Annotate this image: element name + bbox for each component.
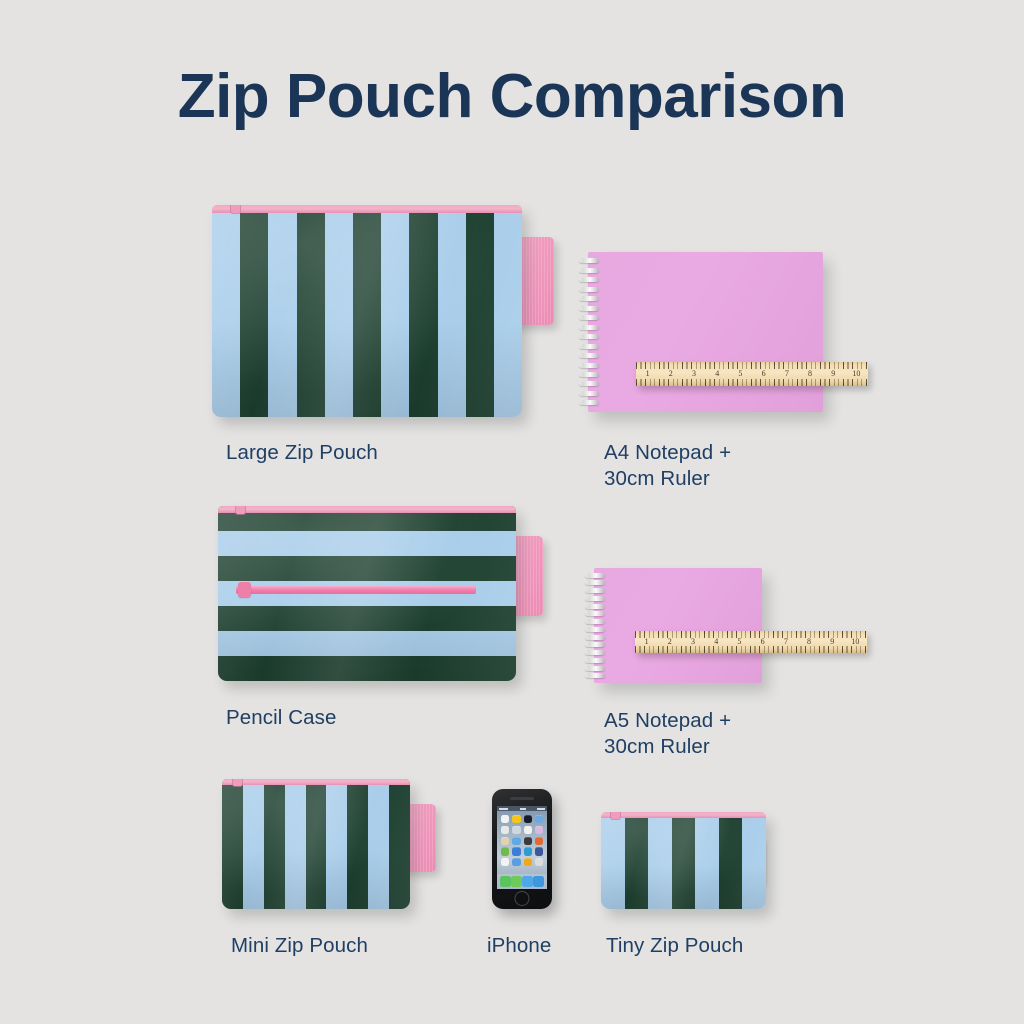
ruler-ticks-bottom bbox=[635, 646, 867, 653]
dock-icon-phone bbox=[500, 876, 511, 887]
tiny-zip-pouch-caption: Tiny Zip Pouch bbox=[606, 933, 846, 959]
a4-ruler[interactable]: 1 2 3 4 5 6 7 8 9 10 bbox=[636, 362, 868, 386]
ruler-number: 1 bbox=[636, 369, 659, 378]
ruler-number: 2 bbox=[659, 369, 682, 378]
large-pouch-zipper[interactable] bbox=[212, 205, 522, 213]
tiny-pouch-zipper[interactable] bbox=[601, 812, 766, 818]
tiny-pouch-body bbox=[601, 812, 766, 909]
pencil-case-caption: Pencil Case bbox=[226, 705, 526, 731]
pencil-case[interactable]: PROJECT TEN bbox=[218, 506, 516, 681]
mini-zip-pouch[interactable]: PROJECT TEN bbox=[222, 779, 410, 909]
a5-notepad-page bbox=[594, 568, 762, 683]
iphone-app-grid[interactable] bbox=[497, 811, 547, 866]
app-icon bbox=[501, 847, 509, 855]
a5-notepad[interactable] bbox=[594, 568, 762, 683]
app-icon bbox=[535, 858, 543, 866]
app-icon bbox=[501, 837, 509, 845]
pencil-case-body bbox=[218, 506, 516, 681]
ruler-number: 1 bbox=[635, 637, 658, 646]
app-icon bbox=[501, 826, 509, 834]
app-icon bbox=[535, 837, 543, 845]
ruler-number: 8 bbox=[797, 637, 820, 646]
app-icon bbox=[524, 815, 532, 823]
large-zip-pouch[interactable]: PROJECT TEN bbox=[212, 205, 522, 417]
iphone-earpiece-speaker bbox=[510, 797, 534, 800]
app-icon bbox=[524, 837, 532, 845]
iphone[interactable] bbox=[492, 789, 552, 909]
app-icon bbox=[535, 847, 543, 855]
a5-notepad-spiral bbox=[585, 573, 605, 679]
a4-notepad[interactable] bbox=[588, 252, 823, 412]
mini-zip-pouch-caption: Mini Zip Pouch bbox=[231, 933, 471, 959]
app-icon bbox=[524, 847, 532, 855]
ruler-numbers: 1 2 3 4 5 6 7 8 9 10 bbox=[636, 369, 868, 380]
a5-ruler[interactable]: 1 2 3 4 5 6 7 8 9 10 bbox=[635, 631, 867, 653]
iphone-screen[interactable] bbox=[497, 806, 547, 889]
dock-icon-mail bbox=[522, 876, 533, 887]
ruler-number: 3 bbox=[681, 637, 704, 646]
a5-notepad-ruler-caption: A5 Notepad + 30cm Ruler bbox=[604, 708, 884, 760]
ruler-number: 7 bbox=[775, 369, 798, 378]
ruler-ticks-bottom bbox=[636, 379, 868, 386]
app-icon bbox=[512, 837, 520, 845]
dock-icon-safari bbox=[533, 876, 544, 887]
ruler-numbers: 1 2 3 4 5 6 7 8 9 10 bbox=[635, 637, 867, 647]
page-title: Zip Pouch Comparison bbox=[0, 66, 1024, 128]
mini-pouch-zipper[interactable] bbox=[222, 779, 410, 785]
ruler-number: 10 bbox=[844, 637, 867, 646]
dock-icon-messages bbox=[511, 876, 522, 887]
pencil-case-front-zipper[interactable] bbox=[236, 586, 476, 594]
app-icon bbox=[524, 826, 532, 834]
a4-notepad-spiral bbox=[579, 258, 599, 405]
app-icon bbox=[512, 815, 520, 823]
tiny-pouch-stripes bbox=[601, 812, 766, 909]
ruler-number: 9 bbox=[822, 369, 845, 378]
ruler-number: 9 bbox=[821, 637, 844, 646]
app-icon bbox=[535, 815, 543, 823]
tiny-zip-pouch[interactable]: PROJECT TEN bbox=[601, 812, 766, 909]
large-zip-pouch-caption: Large Zip Pouch bbox=[226, 440, 526, 466]
ruler-number: 10 bbox=[845, 369, 868, 378]
mini-pouch-body bbox=[222, 779, 410, 909]
pencil-case-top-zipper[interactable] bbox=[218, 506, 516, 513]
app-icon bbox=[512, 858, 520, 866]
large-pouch-body bbox=[212, 205, 522, 417]
mini-pouch-stripes bbox=[222, 779, 410, 909]
ruler-number: 4 bbox=[705, 637, 728, 646]
ruler-number: 6 bbox=[751, 637, 774, 646]
iphone-home-button[interactable] bbox=[515, 891, 530, 906]
ruler-number: 5 bbox=[729, 369, 752, 378]
a4-notepad-ruler-caption: A4 Notepad + 30cm Ruler bbox=[604, 440, 884, 492]
ruler-number: 6 bbox=[752, 369, 775, 378]
ruler-number: 5 bbox=[728, 637, 751, 646]
a4-notepad-page bbox=[588, 252, 823, 412]
app-icon bbox=[501, 815, 509, 823]
iphone-dock[interactable] bbox=[497, 874, 547, 889]
ruler-number: 8 bbox=[798, 369, 821, 378]
app-icon bbox=[524, 858, 532, 866]
ruler-number: 2 bbox=[658, 637, 681, 646]
large-pouch-stripes bbox=[212, 205, 522, 417]
app-icon bbox=[535, 826, 543, 834]
ruler-number: 3 bbox=[682, 369, 705, 378]
app-icon bbox=[501, 858, 509, 866]
ruler-number: 4 bbox=[706, 369, 729, 378]
ruler-number: 7 bbox=[774, 637, 797, 646]
app-icon bbox=[512, 826, 520, 834]
app-icon bbox=[512, 847, 520, 855]
